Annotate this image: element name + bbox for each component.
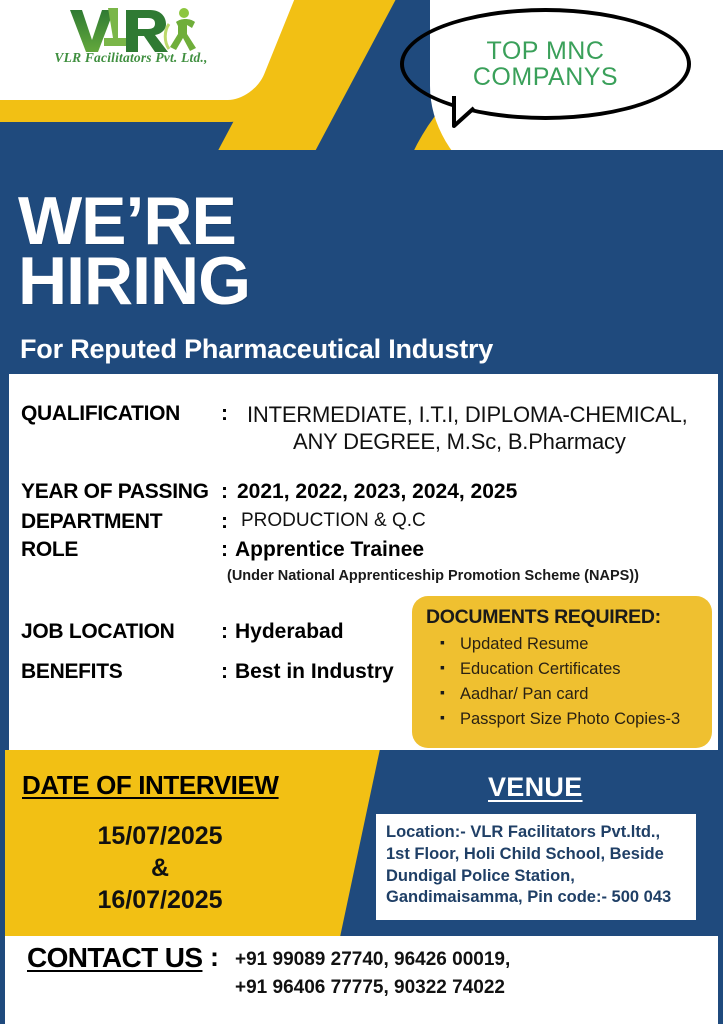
row-department: DEPARTMENT : PRODUCTION & Q.C	[21, 510, 426, 534]
job-location-colon: :	[221, 620, 231, 644]
row-year-of-passing: YEAR OF PASSING : 2021, 2022, 2023, 2024…	[21, 480, 517, 504]
list-item: Aadhar/ Pan card	[440, 685, 702, 704]
interview-date-2: 16/07/2025	[60, 884, 260, 916]
interview-date-1: 15/07/2025	[60, 820, 260, 852]
list-item: Passport Size Photo Copies-3	[440, 710, 702, 729]
venue-title: VENUE	[488, 772, 583, 803]
benefits-value: Best in Industry	[231, 660, 394, 684]
badge-text: TOP MNC COMPANYS	[473, 38, 618, 91]
row-role: ROLE : Apprentice Trainee	[21, 538, 424, 562]
documents-required-list: Updated Resume Education Certificates Aa…	[426, 635, 702, 729]
venue-address: Location:- VLR Facilitators Pvt.ltd., 1s…	[386, 822, 686, 909]
contact-section: CONTACT US : +91 99089 27740, 96426 0001…	[0, 936, 723, 1024]
hero-subtitle: For Reputed Pharmaceutical Industry	[20, 334, 493, 365]
list-item: Education Certificates	[440, 660, 702, 679]
venue-line-4: Gandimaisamma, Pin code:- 500 043	[386, 888, 671, 906]
top-mnc-badge: TOP MNC COMPANYS	[400, 8, 691, 120]
role-colon: :	[221, 538, 231, 562]
speech-bubble-tail-icon	[452, 96, 482, 134]
contact-phone-line-1[interactable]: +91 99089 27740, 96426 00019,	[235, 949, 510, 970]
documents-required-title: DOCUMENTS REQUIRED:	[426, 606, 702, 629]
role-naps-note: (Under National Apprenticeship Promotion…	[227, 568, 639, 584]
recruitment-poster: VLR Facilitators Pvt. Ltd., TOP MNC COMP…	[0, 0, 723, 1024]
venue-line-1: Location:- VLR Facilitators Pvt.ltd.,	[386, 823, 660, 841]
job-location-label: JOB LOCATION	[21, 620, 221, 644]
department-colon: :	[221, 510, 241, 534]
vlr-logo-icon	[56, 4, 206, 56]
venue-line-2: 1st Floor, Holi Child School, Beside	[386, 845, 664, 863]
badge-line-2: COMPANYS	[473, 63, 618, 91]
list-item: Updated Resume	[440, 635, 702, 654]
department-value: PRODUCTION & Q.C	[241, 510, 426, 532]
role-value: Apprentice Trainee	[231, 538, 424, 562]
benefits-colon: :	[221, 660, 231, 684]
left-border-accent	[0, 374, 5, 1024]
qualification-label: QUALIFICATION	[21, 402, 221, 426]
row-job-location: JOB LOCATION : Hyderabad	[21, 620, 344, 644]
badge-line-1: TOP MNC	[487, 37, 605, 65]
company-logo: VLR Facilitators Pvt. Ltd.,	[36, 4, 226, 84]
qualification-value-line-1: INTERMEDIATE, I.T.I, DIPLOMA-CHEMICAL,	[247, 402, 688, 427]
contact-colon: :	[210, 942, 219, 973]
qualification-colon: :	[221, 402, 247, 426]
year-of-passing-colon: :	[221, 480, 237, 504]
contact-us-label: CONTACT US	[27, 942, 202, 974]
job-location-value: Hyderabad	[231, 620, 344, 644]
venue-address-box: Location:- VLR Facilitators Pvt.ltd., 1s…	[376, 814, 696, 920]
documents-required-box: DOCUMENTS REQUIRED: Updated Resume Educa…	[412, 596, 712, 748]
date-of-interview-title: DATE OF INTERVIEW	[22, 770, 279, 801]
row-qualification: QUALIFICATION : INTERMEDIATE, I.T.I, DIP…	[21, 402, 688, 456]
row-benefits: BENEFITS : Best in Industry	[21, 660, 394, 684]
hero-line-2: HIRING	[18, 252, 250, 312]
contact-phone-numbers[interactable]: +91 99089 27740, 96426 00019, +91 96406 …	[235, 946, 510, 1001]
qualification-value: INTERMEDIATE, I.T.I, DIPLOMA-CHEMICAL, A…	[247, 402, 688, 456]
year-of-passing-value: 2021, 2022, 2023, 2024, 2025	[237, 480, 517, 504]
qualification-value-line-2: ANY DEGREE, M.Sc, B.Pharmacy	[247, 429, 626, 456]
department-label: DEPARTMENT	[21, 510, 221, 534]
right-border-accent	[718, 374, 723, 1024]
role-label: ROLE	[21, 538, 221, 562]
interview-dates: 15/07/2025 & 16/07/2025	[60, 820, 260, 916]
hero-heading: WE’RE HIRING	[18, 192, 250, 312]
contact-phone-line-2[interactable]: +91 96406 77775, 90322 74022	[235, 977, 505, 998]
interview-date-separator: &	[60, 852, 260, 884]
venue-line-3: Dundigal Police Station,	[386, 867, 575, 885]
year-of-passing-label: YEAR OF PASSING	[21, 480, 221, 504]
interview-venue-band: DATE OF INTERVIEW 15/07/2025 & 16/07/202…	[0, 750, 723, 936]
benefits-label: BENEFITS	[21, 660, 221, 684]
logo-mark	[36, 4, 226, 54]
